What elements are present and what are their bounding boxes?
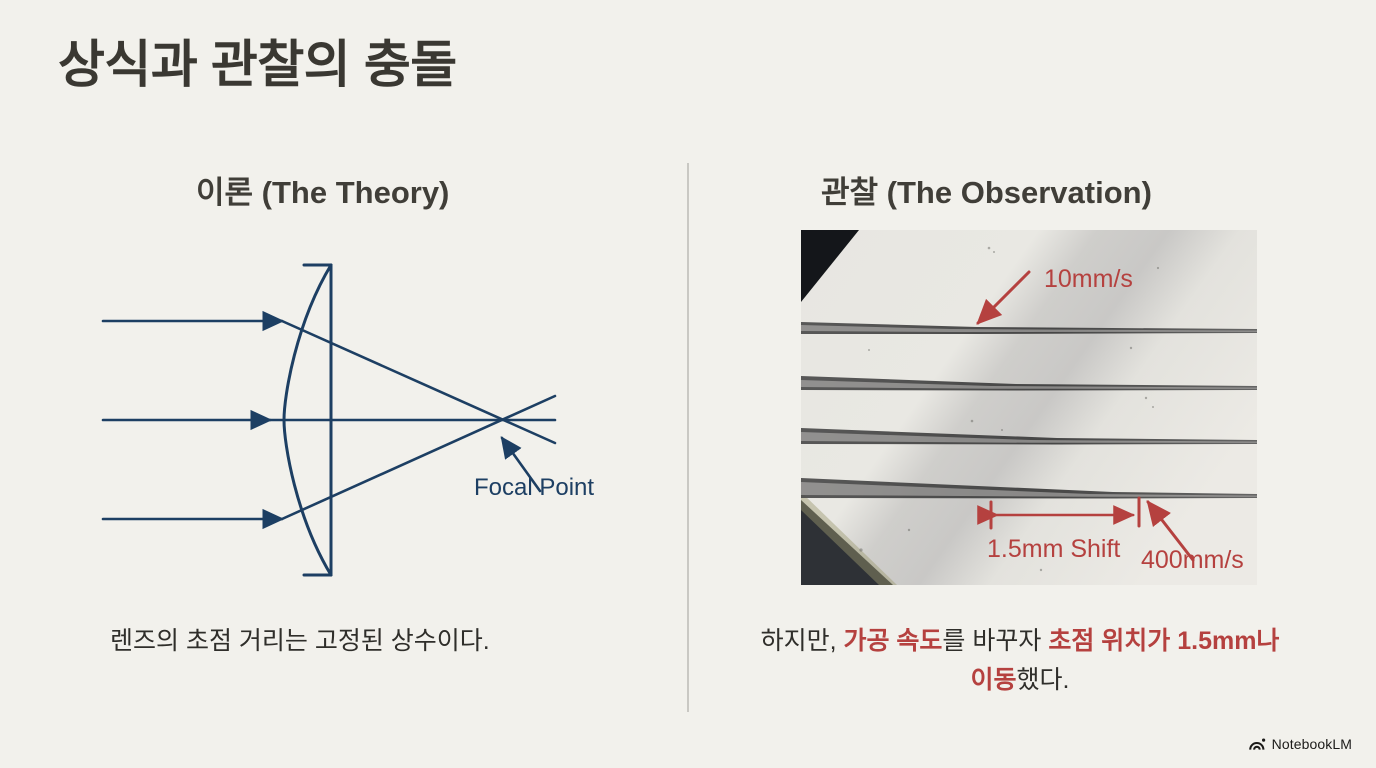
focal-point-label: Focal Point [474,474,594,502]
right-column-caption: 하지만, 가공 속도를 바꾸자 초점 위치가 1.5mm나 이동했다. [760,622,1280,700]
left-column-heading: 이론 (The Theory) [196,167,449,212]
annotation-label-shift: 1.5mm Shift [987,535,1120,563]
lens-ray-diagram [90,248,610,593]
brand-name: NotebookLM [1272,736,1352,752]
notebooklm-logo-icon [1249,737,1266,751]
left-column-caption: 렌즈의 초점 거리는 고정된 상수이다. [110,622,630,661]
annotation-label-400mms: 400mm/s [1141,546,1244,574]
caption-part-1: 하지만, [761,627,844,655]
right-column-heading: 관찰 (The Observation) [821,167,1152,212]
slide-root: 상식과 관찰의 충돌 이론 (The Theory) [0,0,1376,768]
incident-rays [103,321,282,519]
page-title: 상식과 관찰의 충돌 [58,36,457,95]
caption-highlight-1: 가공 속도 [843,627,942,655]
caption-part-2: 를 바꾸자 [942,627,1048,655]
column-divider [687,163,689,712]
observation-photo: 10mm/s 1.5mm Shift 400mm/s [801,230,1257,585]
annotation-label-10mms: 10mm/s [1044,265,1133,293]
brand-footer: NotebookLM [1249,736,1352,752]
caption-part-3: 했다. [1017,666,1070,694]
